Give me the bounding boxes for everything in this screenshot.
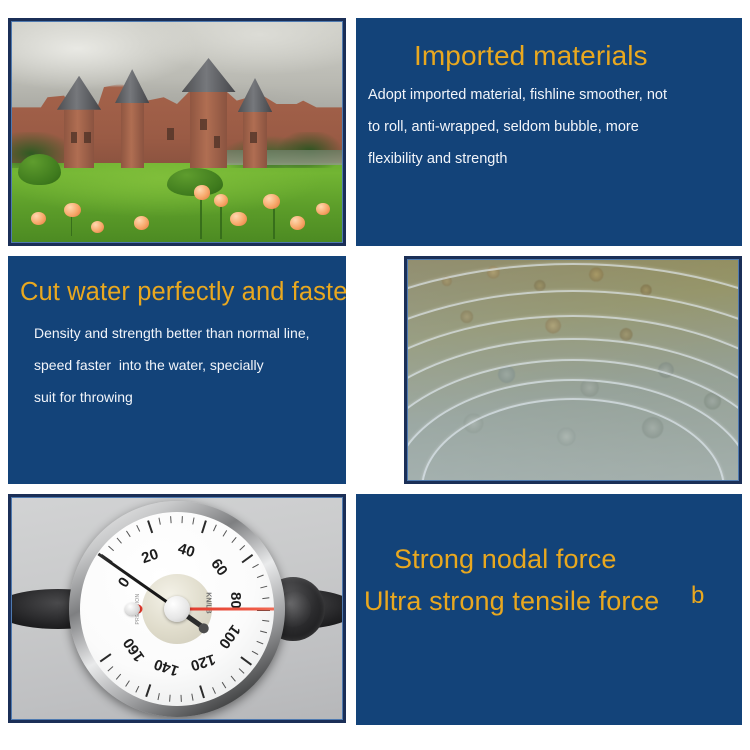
gauge-tick-minor	[158, 517, 160, 524]
castle-scene	[11, 21, 343, 243]
turret-mid	[121, 103, 144, 167]
gauge-tick-minor	[117, 537, 122, 543]
gauge-tick-minor	[169, 694, 171, 701]
imported-materials-line-2: to roll, anti-wrapped, seldom bubble, mo…	[368, 120, 639, 135]
gauge-tick-minor	[231, 675, 236, 681]
gauge-tick-minor	[125, 680, 130, 686]
gauge-tick-minor	[157, 693, 159, 700]
gauge-bezel: PRECISION KN/LB 020406080100120140160	[69, 501, 285, 717]
rose-flower	[91, 221, 104, 233]
gauge-tick-minor	[192, 517, 194, 524]
gauge-tick-minor	[223, 530, 228, 536]
rose-flower	[31, 212, 46, 225]
castle-window	[200, 119, 207, 130]
gauge-tick-minor	[212, 687, 216, 694]
gauge-reset-pin[interactable]	[125, 602, 140, 615]
gauge-tick-major	[201, 520, 207, 533]
rose-flower	[134, 216, 149, 229]
turret-main	[190, 92, 227, 167]
gauge-tick-major	[145, 684, 151, 697]
gauge-tick-minor	[262, 597, 269, 599]
gauge-dial-number: 140	[152, 655, 181, 679]
gauge-tick-minor	[213, 524, 217, 531]
cut-water-line-2: speed faster into the water, specially	[34, 358, 264, 372]
gauge-tick-major	[199, 685, 205, 698]
topiary-bush	[18, 154, 61, 185]
gauge-scene: PRECISION KN/LB 020406080100120140160	[11, 497, 343, 720]
nodal-force-panel: Strong nodal force Ultra strong tensile …	[356, 494, 742, 725]
gauge-tick-minor	[252, 650, 259, 654]
gauge-tick-minor	[239, 544, 245, 550]
gauge-unit-label: KN/LB	[205, 592, 212, 613]
imported-materials-headline: Imported materials	[414, 42, 648, 70]
cut-water-line-3: suit for throwing	[34, 390, 133, 404]
nodal-force-headline-2: Ultra strong tensile force	[364, 588, 659, 615]
gauge-tick-minor	[108, 545, 114, 550]
castle-window	[71, 132, 78, 143]
gauge-tick-minor	[260, 630, 267, 633]
rose-flower	[290, 216, 305, 229]
gauge-dial-number: 80	[227, 592, 244, 609]
imported-materials-line-3: flexibility and strength	[368, 152, 507, 167]
gauge-dial-number: 60	[207, 555, 231, 579]
castle-window	[167, 128, 174, 140]
gauge-dial-number: 160	[120, 634, 148, 664]
castle-photo-panel	[8, 18, 346, 246]
gauge-tick-major	[100, 653, 112, 662]
cut-water-panel: Cut water perfectly and faster Density a…	[8, 256, 346, 484]
imported-materials-panel: Imported materials Adopt imported materi…	[356, 18, 742, 246]
gauge-peak-indicator	[177, 607, 274, 610]
gauge-tick-minor	[182, 516, 183, 523]
castle-window	[250, 132, 257, 143]
gauge-tick-minor	[222, 681, 227, 687]
water-ripples-photo-panel	[404, 256, 742, 484]
rose-flower	[64, 203, 81, 217]
gauge-dial-face: PRECISION KN/LB 020406080100120140160	[80, 512, 274, 706]
cut-water-headline: Cut water perfectly and faster	[20, 280, 346, 306]
gauge-dial-number: 40	[176, 539, 197, 560]
gauge-tick-minor	[116, 673, 121, 679]
gauge-dial-number: 20	[139, 545, 160, 566]
gauge-tick-minor	[257, 574, 264, 578]
gauge-tick-minor	[231, 536, 236, 542]
gauge-tick-major	[240, 656, 252, 665]
gauge-tick-minor	[191, 693, 193, 700]
render-artifact-glyph: b	[691, 582, 704, 610]
gauge-tick-major	[242, 554, 254, 563]
gauge-center-cap	[164, 596, 190, 622]
rose-flower	[230, 212, 247, 226]
gauge-tick-minor	[262, 619, 269, 621]
castle-window	[84, 132, 91, 143]
gauge-tick-minor	[181, 694, 182, 701]
nodal-force-headline-1: Strong nodal force	[394, 546, 616, 573]
gauge-tick-minor	[239, 668, 245, 674]
cut-water-line-1: Density and strength better than normal …	[34, 326, 310, 340]
gauge-tick-minor	[135, 685, 139, 692]
gauge-tick-minor	[170, 516, 172, 523]
rose-flower	[263, 194, 280, 208]
rose-flower	[194, 185, 211, 199]
castle-window	[214, 136, 221, 147]
gauge-tick-minor	[252, 563, 259, 567]
gauge-tick-major	[147, 520, 153, 533]
moat	[223, 150, 343, 166]
ripple-ring	[407, 263, 739, 481]
gauge-dial-number: 100	[215, 621, 244, 651]
gauge-dial-number: 120	[188, 650, 217, 674]
water-scene	[407, 259, 739, 481]
imported-materials-line-1: Adopt imported material, fishline smooth…	[368, 88, 667, 103]
rose-flower	[316, 203, 329, 215]
gauge-tick-minor	[257, 640, 264, 644]
gauge-tick-minor	[136, 524, 140, 531]
gauge-tick-minor	[107, 666, 113, 671]
rose-stem	[200, 194, 202, 238]
tension-gauge-photo-panel: PRECISION KN/LB 020406080100120140160	[8, 494, 346, 723]
infographic-page: Imported materials Adopt imported materi…	[0, 0, 750, 750]
gauge-tick-minor	[260, 585, 267, 588]
gauge-tick-minor	[126, 530, 131, 536]
